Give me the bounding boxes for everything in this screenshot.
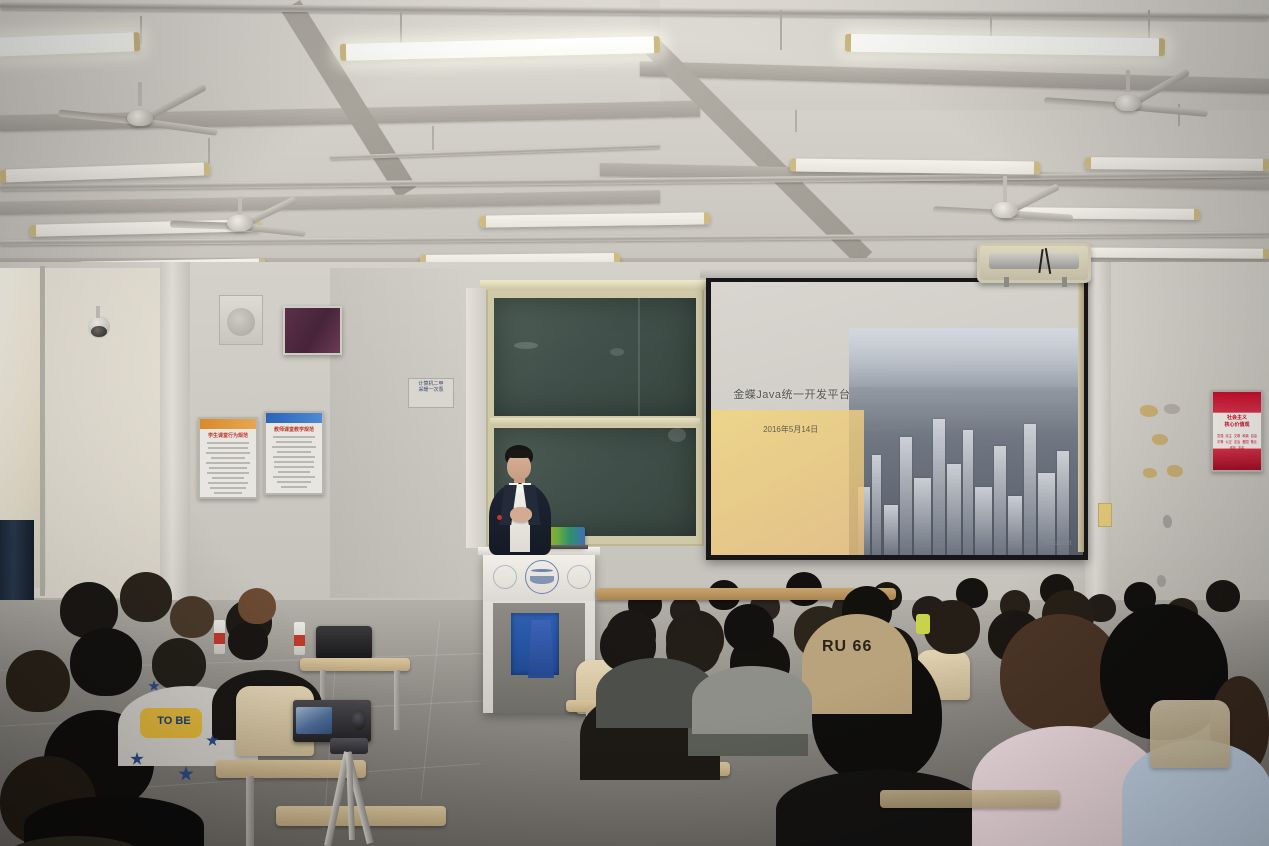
wall-panel — [283, 306, 342, 355]
fluorescent-tube-light — [1085, 157, 1269, 171]
seat-desk — [880, 790, 1060, 808]
slide-cityscape-photo — [849, 328, 1083, 555]
lectern-emblem — [525, 560, 559, 594]
audience-head — [152, 638, 206, 690]
poster-title: 学生课堂行为规范 — [200, 432, 256, 439]
audience-head — [120, 572, 172, 622]
audience-head — [170, 596, 214, 638]
value-word: 和谐 — [1242, 433, 1248, 438]
wall-tape-mark — [1143, 468, 1157, 478]
wall-tape-mark — [1164, 404, 1180, 414]
wall-tape-mark — [1152, 434, 1168, 445]
value-word: 自由 — [1251, 433, 1257, 438]
slide-logo: Neusoft — [1044, 540, 1072, 547]
presenter-hair-fringe — [506, 449, 532, 458]
auditorium-seat — [1150, 700, 1230, 768]
room-plaque: 计算机二甲 采暖一次泵 — [408, 378, 454, 408]
projection-screen: 金蝶Java统一开发平台 2016年5月14日 Neusoft — [706, 277, 1088, 560]
wall-tape-mark — [1140, 405, 1158, 417]
window-frame — [40, 266, 45, 596]
wall-scuff — [1163, 515, 1172, 528]
lectern-seal-left — [493, 565, 517, 589]
wall-shadow — [330, 268, 480, 598]
camcorder-lens — [352, 710, 366, 730]
wall-tape-mark — [1167, 465, 1183, 477]
blackboard-panel-upper — [494, 298, 696, 416]
slide-date: 2016年5月14日 — [763, 424, 818, 435]
value-word: 文明 — [1234, 433, 1240, 438]
poster-student-rules: 学生课堂行为规范 — [198, 417, 258, 499]
value-word: 友善 — [1238, 445, 1244, 450]
audience-head — [724, 604, 774, 652]
value-word: 诚信 — [1230, 445, 1236, 450]
audience-head — [606, 610, 656, 658]
audience-head — [228, 622, 268, 660]
ceiling-fan — [55, 104, 225, 132]
audience-torso — [776, 770, 986, 846]
security-camera-icon — [88, 316, 110, 338]
camcorder-lcd — [296, 707, 332, 734]
value-word: 爱国 — [1242, 439, 1248, 444]
hoodie-graphic-text: TO BE — [146, 715, 202, 727]
value-word: 民主 — [1225, 433, 1231, 438]
value-word: 法治 — [1234, 439, 1240, 444]
tripod — [300, 738, 410, 846]
value-word: 富强 — [1217, 433, 1223, 438]
ceiling-fan — [1040, 90, 1215, 116]
blackboard-top-trim — [480, 280, 710, 290]
chalk-smudge — [514, 342, 538, 349]
chalk-smudge — [610, 348, 624, 356]
ceiling-fan — [930, 200, 1080, 220]
presentation-slide: 金蝶Java统一开发平台 2016年5月14日 Neusoft — [711, 282, 1083, 555]
stacked-stools — [528, 620, 554, 678]
camcorder — [293, 700, 371, 742]
value-word: 敬业 — [1251, 439, 1257, 444]
slide-title: 金蝶Java统一开发平台 — [733, 386, 850, 402]
lecture-hall-photo: 计算机二甲 采暖一次泵 学生课堂行为规范 教师课堂教学规范 社会主义 核心价值观… — [0, 0, 1269, 846]
seat-leg — [246, 776, 254, 846]
hoodie-star — [178, 766, 194, 782]
audience-head — [70, 628, 142, 696]
wall-pillar — [160, 262, 190, 602]
chalk-smudge — [668, 428, 686, 442]
presenter — [480, 445, 560, 555]
projector-mount-arm — [1062, 277, 1067, 287]
presenter-hands — [510, 507, 532, 522]
audience-torso — [692, 666, 812, 734]
projector-body — [989, 253, 1080, 269]
ceiling-fan — [165, 212, 315, 234]
presenter-badge — [497, 515, 502, 520]
blackboard-rail — [490, 418, 700, 426]
ceiling-projector — [977, 243, 1091, 283]
values-title-line-2: 核心价值观 — [1213, 422, 1261, 429]
screen-right-post — [1078, 270, 1084, 552]
value-word: 公正 — [1225, 439, 1231, 444]
plaque-line-2: 采暖一次泵 — [409, 387, 453, 393]
audience-head — [6, 650, 70, 712]
audience-middle-row — [596, 600, 936, 750]
lectern-front-panel — [483, 553, 595, 601]
wall-notice — [1098, 503, 1112, 527]
audience-head-far — [238, 588, 276, 624]
poster-teacher-rules: 教师课堂教学规范 — [264, 411, 324, 495]
poster-title: 教师课堂教学规范 — [266, 426, 322, 433]
wall-speaker — [219, 295, 263, 345]
screen-surface: 金蝶Java统一开发平台 2016年5月14日 Neusoft — [711, 282, 1083, 555]
value-word: 平等 — [1217, 439, 1223, 444]
poster-core-values: 社会主义 核心价值观 富强 民主 文明 和谐 自由 平等 公正 法治 爱国 敬业… — [1211, 390, 1263, 472]
camera-bracket — [96, 306, 100, 318]
projector-mount-arm — [1004, 277, 1009, 287]
blackboard-divider — [638, 298, 640, 416]
